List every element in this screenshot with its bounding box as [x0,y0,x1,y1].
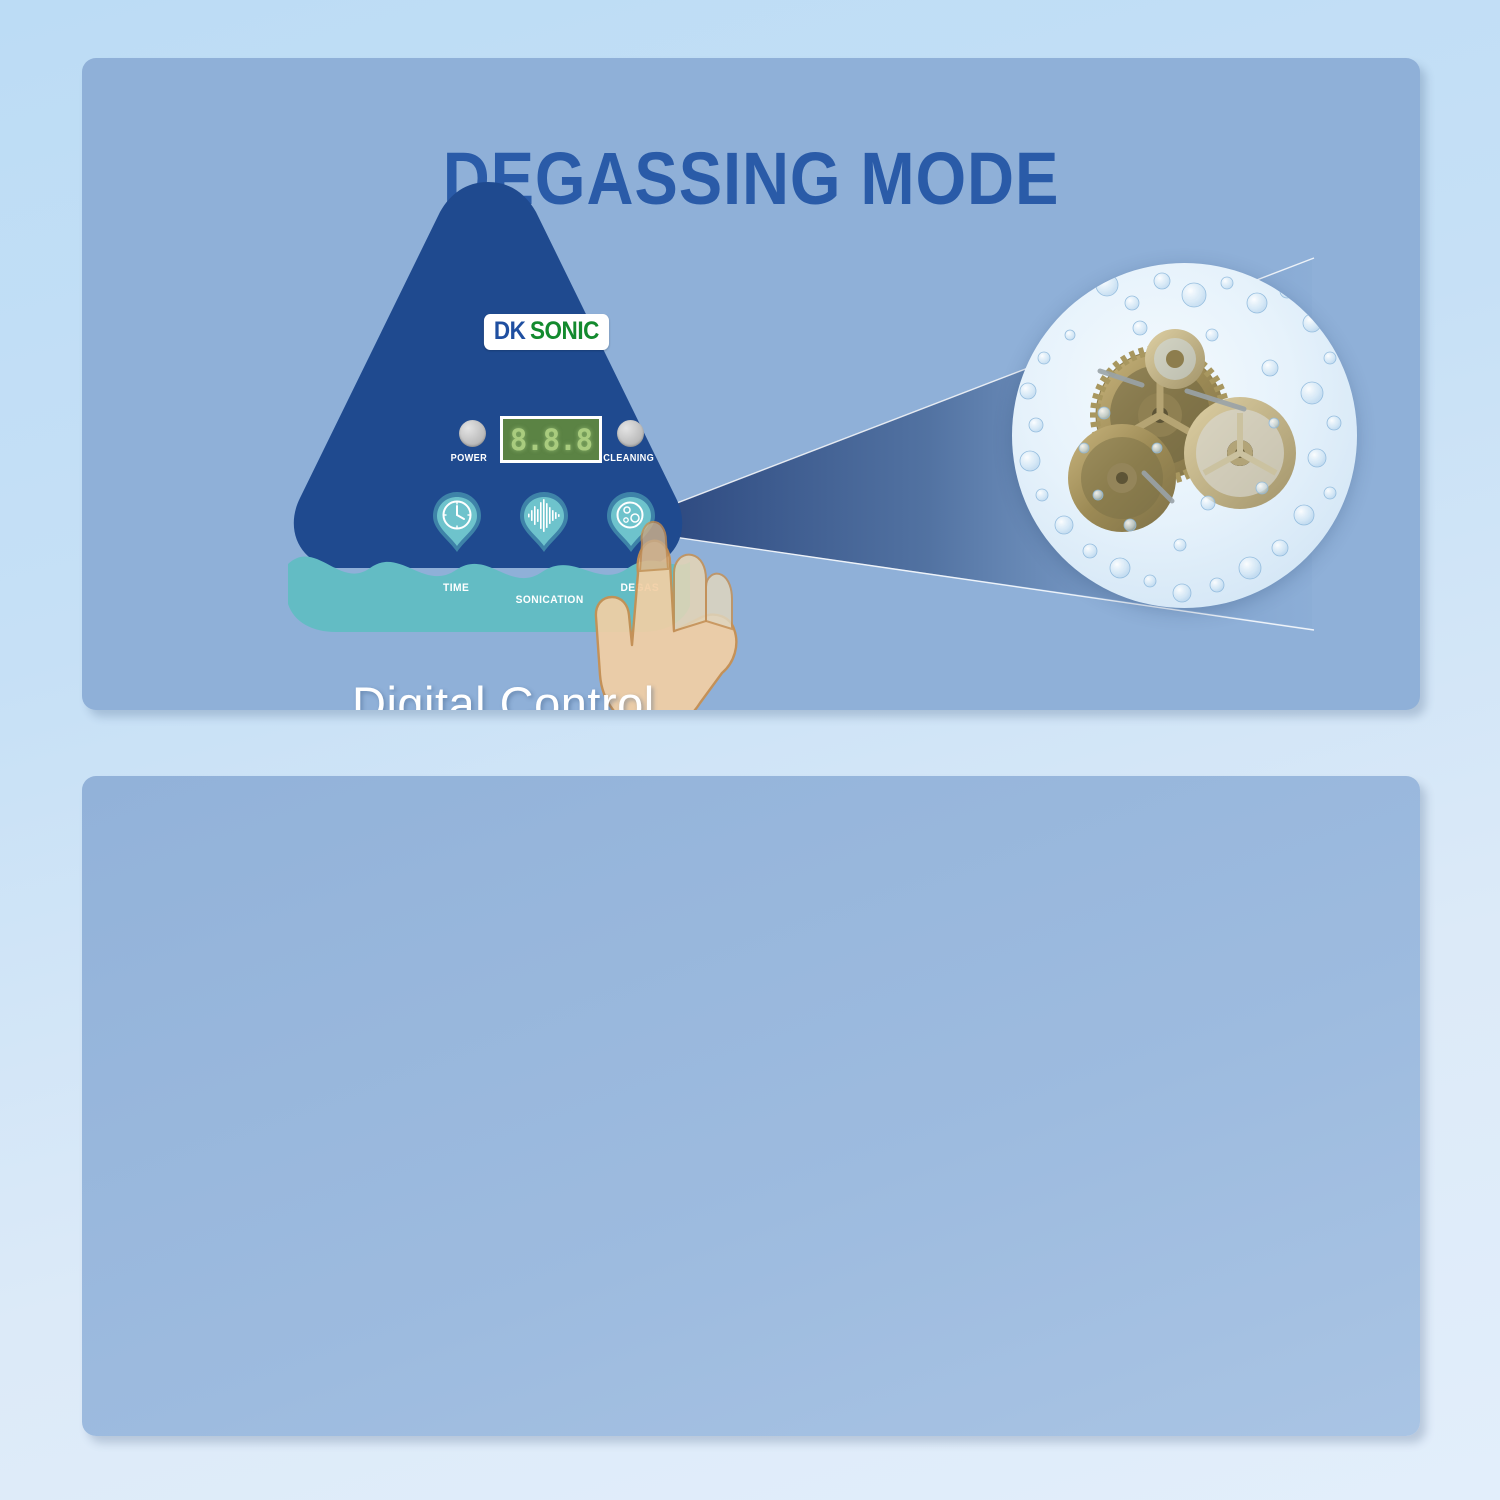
degassing-description-panel: The degassing function is used to remove… [82,776,1420,1436]
lcd-display: 8.8.8 [500,416,602,463]
time-button-label: TIME [443,582,469,594]
logo-dk-text: DK [494,317,526,345]
degassing-mode-panel: DEGASSING MODE DKSONIC [82,58,1420,710]
magnified-gears-in-bubbles [1012,263,1357,608]
lcd-digits: 8.8.8 [510,423,592,457]
cleaning-led [617,420,644,447]
power-led-label: POWER [451,453,488,464]
power-led [459,420,486,447]
cleaning-led-label: CLEANING [603,453,654,464]
digital-control-caption: Digital Control [352,676,655,710]
brand-logo: DKSONIC [484,314,609,350]
time-button[interactable] [429,490,485,554]
sonication-button[interactable] [516,490,572,554]
sonication-button-label: SONICATION [516,594,584,606]
infographic-page: DEGASSING MODE DKSONIC [0,0,1500,1500]
logo-sonic-text: SONIC [530,317,599,345]
